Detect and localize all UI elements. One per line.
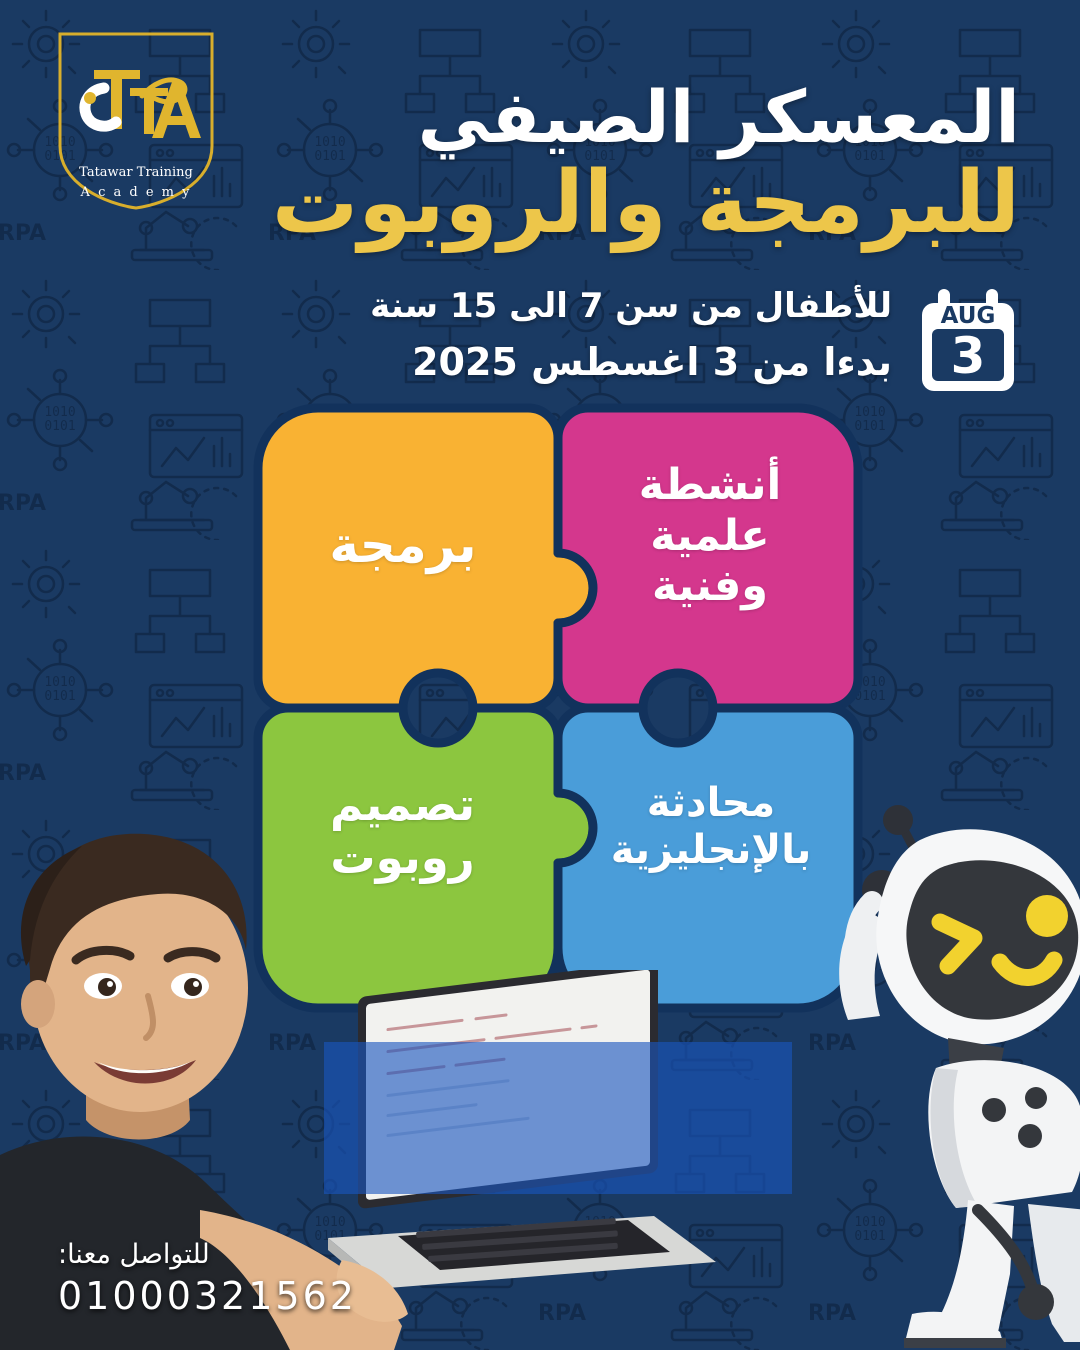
calendar-month-label: AUG: [941, 303, 996, 329]
headline-line-2: للبرمجة والروبوت: [260, 158, 1020, 248]
poster-headline: المعسكر الصيفي للبرمجة والروبوت: [260, 80, 1020, 248]
calendar-icon: AUG 3: [916, 289, 1020, 397]
age-range-text: للأطفال من سن 7 الى 15 سنة: [250, 285, 892, 328]
date-block: للأطفال من سن 7 الى 15 سنة بدءا من 3 اغس…: [250, 285, 1020, 397]
robot-eye: [1026, 895, 1068, 937]
puzzle-piece-robot-design: [558, 708, 858, 1008]
contact-block: للتواصل معنا: 01000321562: [58, 1239, 357, 1318]
academy-logo: Tatawar Training A c a d e m y: [46, 26, 226, 216]
puzzle-piece-programming: [558, 408, 858, 708]
logo-name-line1: Tatawar Training: [79, 165, 193, 180]
contact-phone[interactable]: 01000321562: [58, 1274, 357, 1318]
date-text: للأطفال من سن 7 الى 15 سنة بدءا من 3 اغس…: [250, 285, 892, 387]
mascot-robot: [828, 780, 1080, 1350]
poster-canvas: 1010 0101 RPA: [0, 0, 1080, 1350]
puzzle-piece-science-art: [258, 408, 593, 708]
headline-line-1: المعسكر الصيفي: [260, 80, 1020, 156]
logo-name-line2: A c a d e m y: [80, 185, 192, 200]
start-date-text: بدءا من 3 اغسطس 2025: [250, 338, 892, 387]
contact-label: للتواصل معنا:: [58, 1239, 357, 1270]
calendar-day-label: 3: [951, 327, 986, 385]
